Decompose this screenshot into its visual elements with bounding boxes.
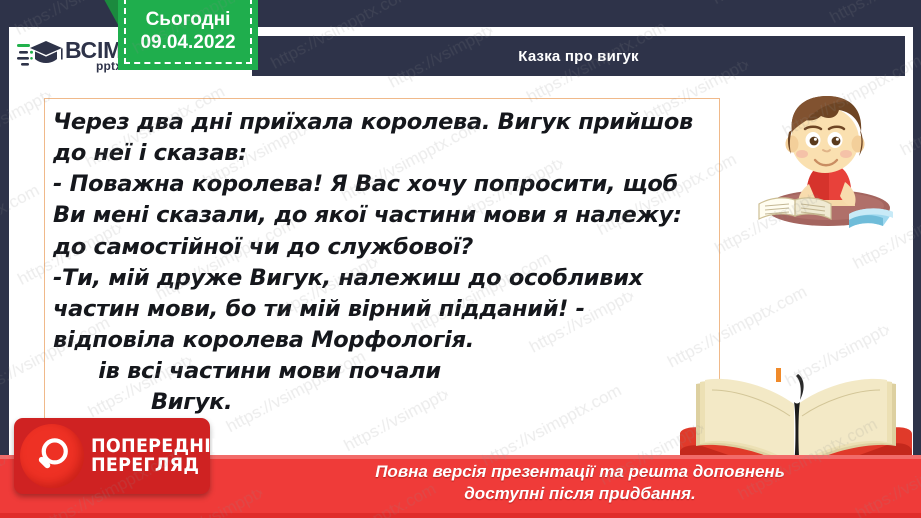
purchase-notice-line-2: доступні після придбання. — [300, 483, 860, 505]
boy-reading-book-illustration — [745, 88, 910, 238]
preview-badge-line-2: ПЕРЕГЛЯД — [91, 456, 226, 475]
purchase-notice-line-1: Повна версія презентації та решта доповн… — [300, 461, 860, 483]
graduation-cap-icon — [17, 39, 63, 73]
date-badge-label: Сьогодні — [146, 8, 231, 31]
brand-logo-text: ВСІМ pptx — [65, 39, 122, 72]
story-text: Через два дні приїхала королева. Вигук п… — [53, 107, 713, 419]
date-badge-value: 09.04.2022 — [140, 31, 235, 54]
preview-badge-text: ПОПЕРЕДНІЙ ПЕРЕГЛЯД — [91, 437, 226, 476]
page-title: Казка про вигук — [518, 48, 638, 65]
date-badge: Сьогодні 09.04.2022 — [118, 0, 258, 70]
magnifier-icon — [20, 424, 84, 488]
brand-logo[interactable]: ВСІМ pptx — [9, 27, 129, 84]
slide-canvas: Казка про вигук ВСІМ pptx — [0, 0, 921, 518]
purchase-notice-text: Повна версія презентації та решта доповн… — [300, 461, 860, 505]
slide-title-bar: Казка про вигук — [252, 36, 905, 76]
preview-badge[interactable]: ПОПЕРЕДНІЙ ПЕРЕГЛЯД — [14, 418, 210, 494]
